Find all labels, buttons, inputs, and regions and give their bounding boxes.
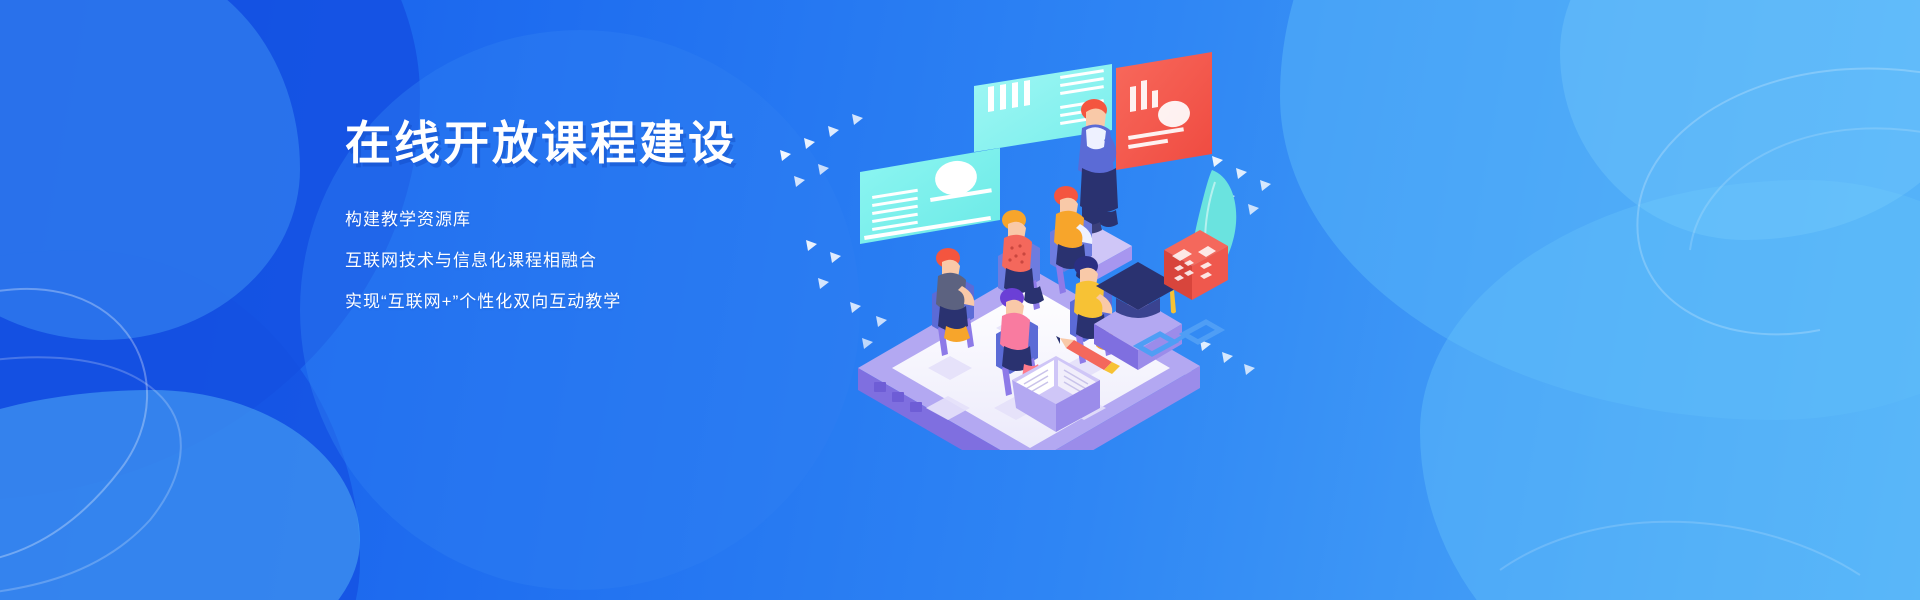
background-blob-right-2 bbox=[1420, 180, 1920, 600]
background-blob-right-3 bbox=[1560, 0, 1920, 240]
illustration-svg bbox=[760, 50, 1300, 450]
hero-banner: 在线开放课程建设 构建教学资源库 互联网技术与信息化课程相融合 实现“互联网+”… bbox=[0, 0, 1920, 600]
background-blob-left-light bbox=[0, 0, 300, 340]
background-blob-right-1 bbox=[1280, 0, 1920, 420]
floating-screen-video bbox=[860, 148, 1000, 244]
floating-screen-red-presentation bbox=[1116, 52, 1212, 170]
background-blob-left-dark-2 bbox=[0, 250, 360, 600]
background-blob-left-light-2 bbox=[0, 390, 360, 600]
classroom-illustration bbox=[760, 50, 1300, 450]
